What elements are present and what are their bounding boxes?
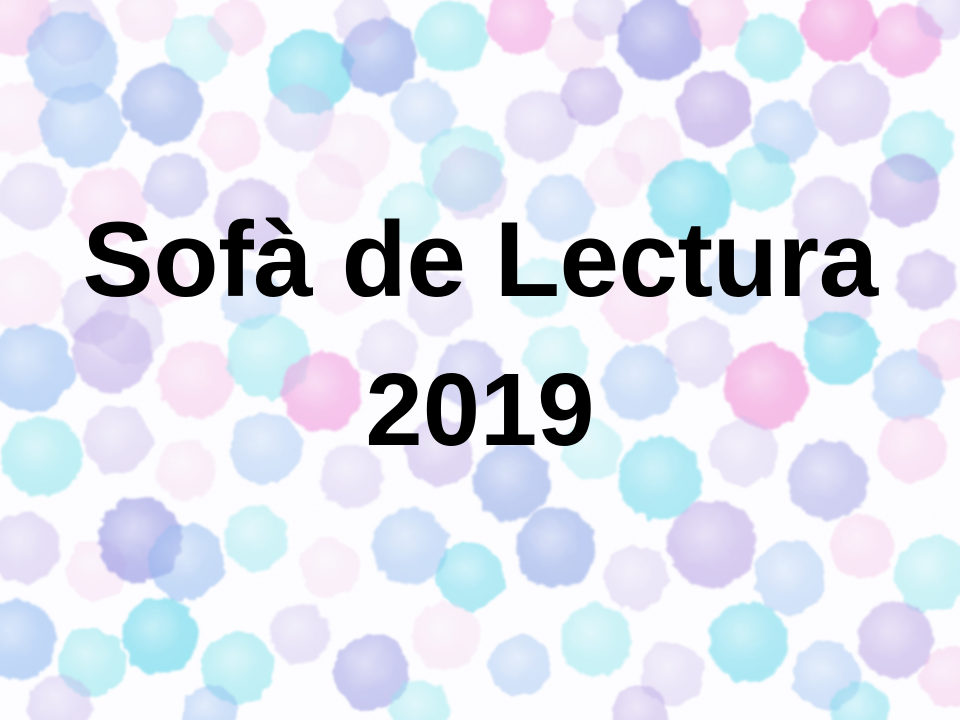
slide-subtitle-year: 2019 bbox=[0, 358, 960, 461]
presentation-slide: Sofà de Lectura 2019 bbox=[0, 0, 960, 720]
title-block: Sofà de Lectura 2019 bbox=[0, 0, 960, 720]
slide-title: Sofà de Lectura bbox=[0, 206, 960, 313]
